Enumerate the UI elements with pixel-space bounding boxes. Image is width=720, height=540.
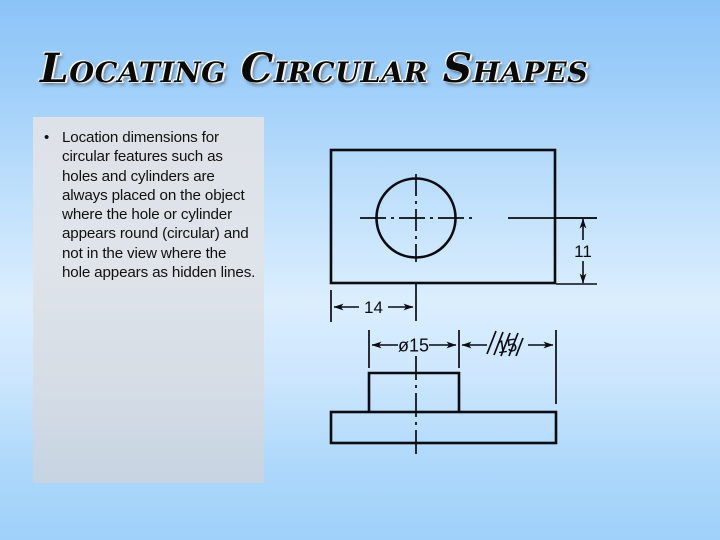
- dim-crossed-value: 15: [496, 335, 519, 358]
- bullet-body-text: Location dimensions for circular feature…: [62, 128, 258, 282]
- front-view-group: ø15 15: [331, 330, 556, 455]
- front-view-base-plate: [331, 412, 556, 443]
- page-title: Locating Circular Shapes: [40, 45, 693, 103]
- dim-d15-value: ø15: [398, 336, 429, 356]
- dim-11-value: 11: [574, 242, 592, 261]
- bullet-marker-icon: •: [42, 128, 62, 147]
- top-view-group: 11 14: [331, 150, 597, 322]
- dim-14-value: 14: [364, 298, 383, 317]
- hole-circle: [377, 179, 456, 258]
- bullet-list-item: • Location dimensions for circular featu…: [42, 128, 258, 282]
- top-view-outline: [331, 150, 555, 283]
- front-view-boss: [369, 373, 459, 412]
- content-text-panel: • Location dimensions for circular featu…: [33, 117, 264, 483]
- dim-crossed-strikeout-marks: [487, 331, 523, 356]
